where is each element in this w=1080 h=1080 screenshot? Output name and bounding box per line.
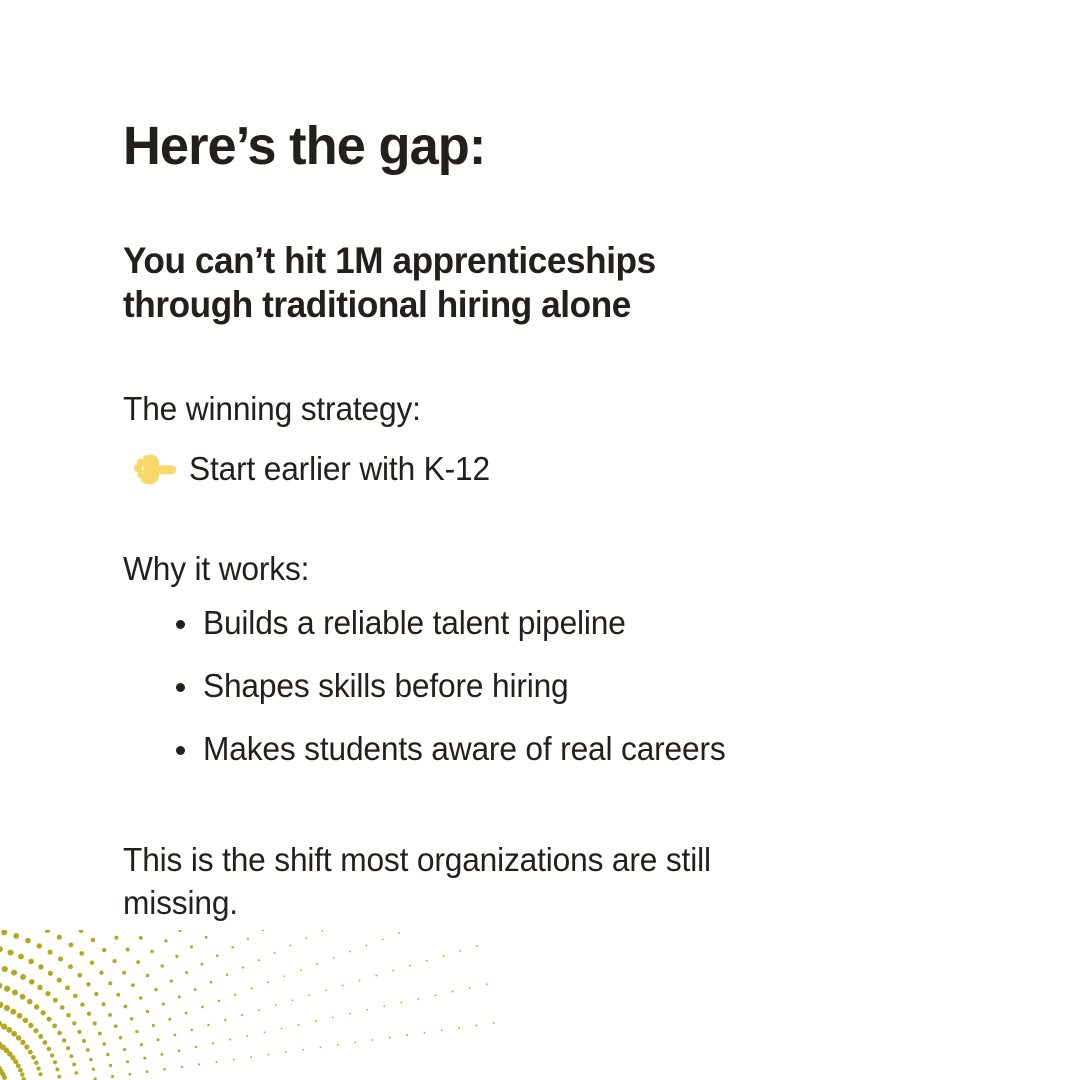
benefits-list: Builds a reliable talent pipeline Shapes…: [123, 588, 1003, 765]
post-content: Here’s the gap: You can’t hit 1M apprent…: [123, 118, 1003, 924]
closing-statement: This is the shift most organizations are…: [123, 765, 968, 923]
subheadline: You can’t hit 1M apprenticeships through…: [123, 175, 959, 326]
halftone-dot-fan-decoration: [0, 930, 520, 1080]
list-item-label: Shapes skills before hiring: [203, 669, 569, 702]
list-item: Builds a reliable talent pipeline: [176, 606, 1003, 639]
why-it-works-section: Why it works: Builds a reliable talent p…: [123, 489, 1003, 766]
strategy-label: The winning strategy:: [123, 389, 968, 429]
strategy-highlight-text: Start earlier with K-12: [189, 449, 490, 489]
social-post-card: Here’s the gap: You can’t hit 1M apprent…: [0, 0, 1080, 1080]
strategy-section: The winning strategy: Start earlier with…: [123, 327, 1003, 489]
page-title: Here’s the gap:: [123, 118, 977, 175]
list-item: Makes students aware of real careers: [176, 732, 1003, 765]
list-item: Shapes skills before hiring: [176, 669, 1003, 702]
why-it-works-label: Why it works:: [123, 549, 968, 589]
list-item-label: Makes students aware of real careers: [203, 732, 726, 765]
strategy-highlight-row: Start earlier with K-12: [123, 428, 1003, 489]
list-item-label: Builds a reliable talent pipeline: [203, 606, 626, 639]
backhand-index-pointing-right-icon: [133, 452, 177, 486]
